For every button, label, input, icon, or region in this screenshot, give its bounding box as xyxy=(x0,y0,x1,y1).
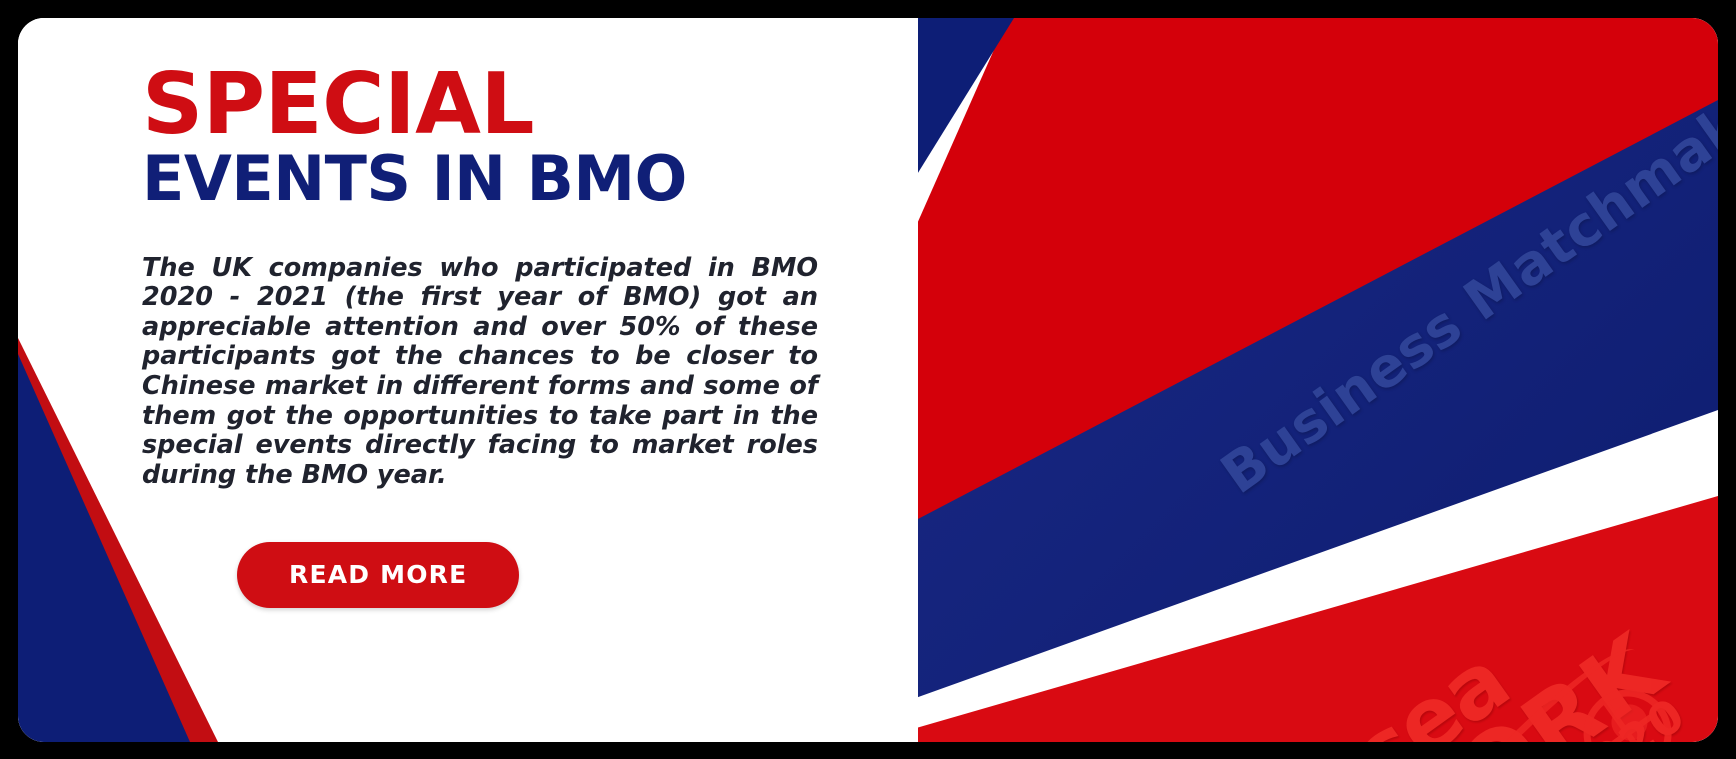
read-more-button[interactable]: READ MORE xyxy=(237,542,519,608)
promo-card: Business Matchmaking Webinar sea WORK as… xyxy=(18,18,1718,742)
cta-row: READ MORE xyxy=(142,542,902,608)
headline-primary: SPECIAL xyxy=(142,64,902,146)
body-paragraph: The UK companies who participated in BMO… xyxy=(142,254,818,491)
card-content: SPECIAL EVENTS IN BMO The UK companies w… xyxy=(142,64,902,608)
headline-secondary: EVENTS IN BMO xyxy=(142,148,902,210)
page-title: SPECIAL EVENTS IN BMO xyxy=(142,64,902,210)
screenshot-root: Business Matchmaking Webinar sea WORK as… xyxy=(0,0,1736,759)
